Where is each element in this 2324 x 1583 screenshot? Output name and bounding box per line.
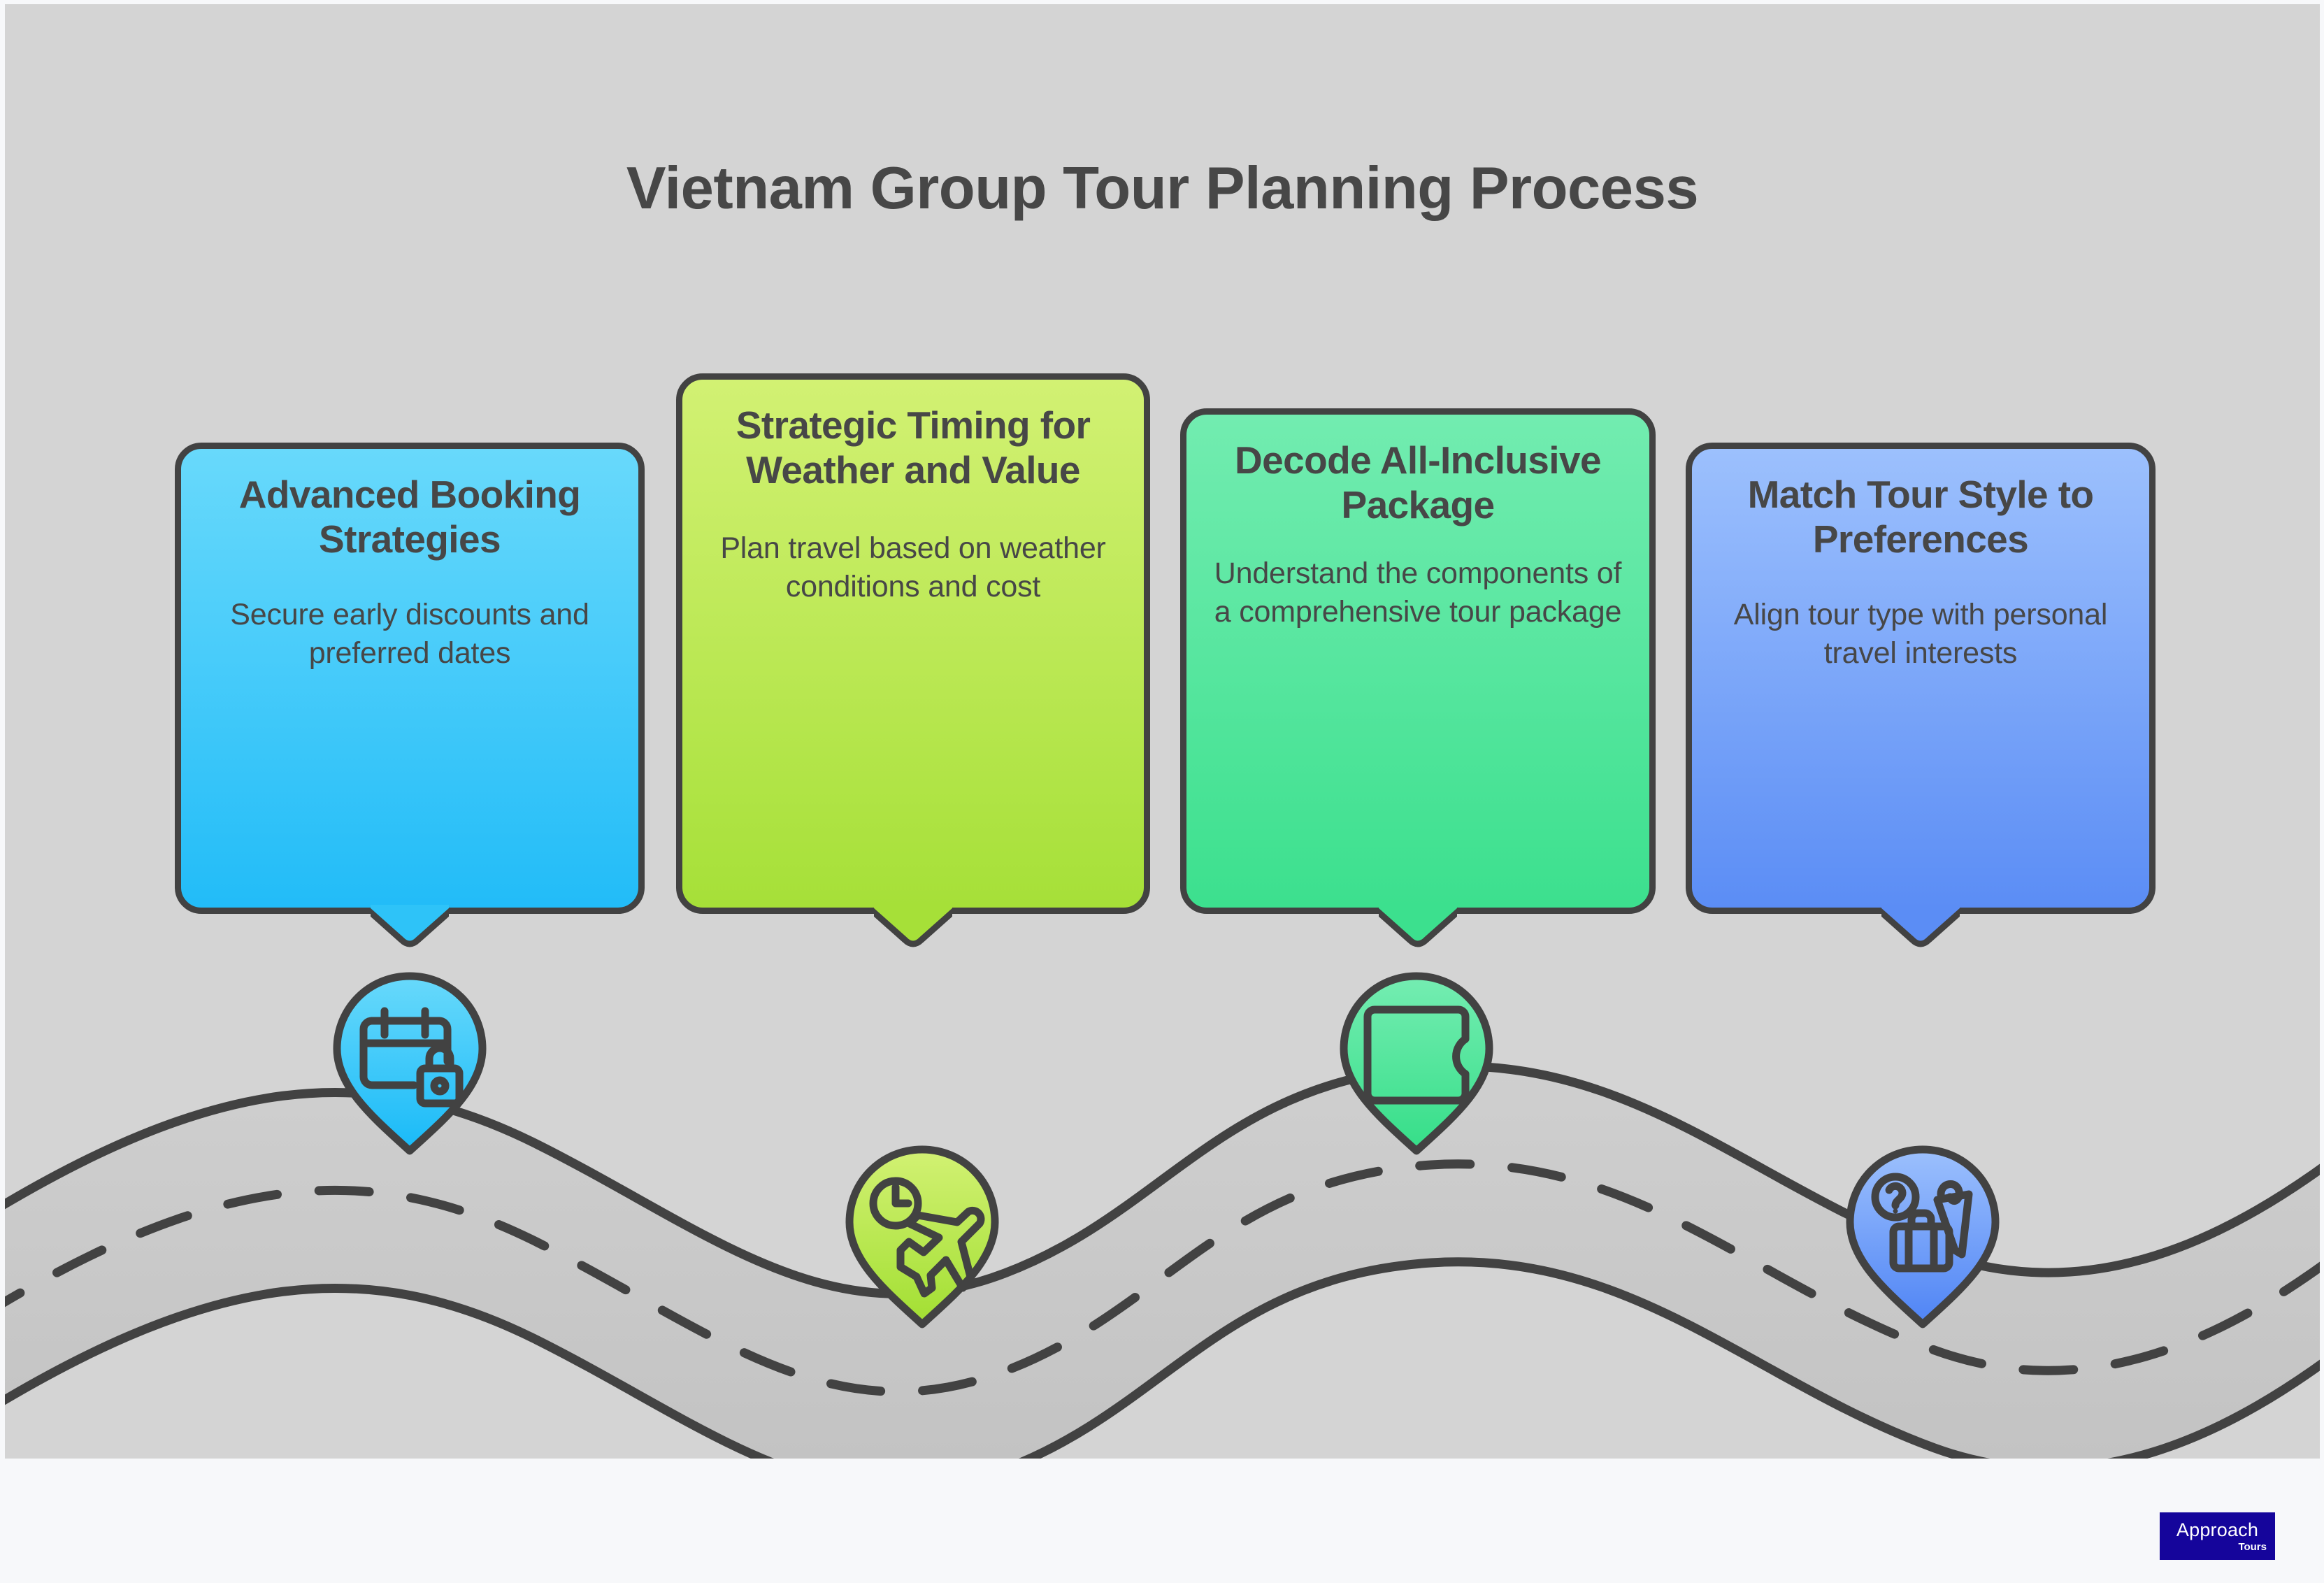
step-card-4-description: Align tour type with personal travel int…: [1713, 596, 2128, 673]
infographic-page: Vietnam Group Tour Planning Process: [0, 0, 2324, 1583]
map-pin-1-calendar-lock[interactable]: [329, 970, 491, 1158]
step-card-2-tail: [874, 905, 952, 951]
step-card-3-title: Decode All-Inclusive Package: [1207, 438, 1628, 528]
pin-2-shape: [849, 1149, 995, 1324]
step-card-3-tail: [1379, 905, 1457, 951]
pin-4-shape: [1850, 1149, 1995, 1324]
pin-1-shape: [337, 976, 482, 1151]
step-card-2-title: Strategic Timing for Weather and Value: [703, 403, 1123, 493]
map-pin-4-question-suitcase-umbrella[interactable]: [1842, 1144, 2004, 1331]
step-card-3-description: Understand the components of a comprehen…: [1207, 554, 1628, 631]
step-card-1-title: Advanced Booking Strategies: [202, 473, 617, 562]
page-title: Vietnam Group Tour Planning Process: [5, 155, 2320, 223]
approach-tours-logo: Approach Tours: [2160, 1512, 2275, 1560]
map-pin-3-puzzle-package[interactable]: [1335, 970, 1498, 1158]
step-card-2[interactable]: Strategic Timing for Weather and Value P…: [676, 373, 1150, 914]
step-card-1-description: Secure early discounts and preferred dat…: [202, 596, 617, 673]
step-card-4[interactable]: Match Tour Style to Preferences Align to…: [1686, 443, 2156, 914]
step-card-4-tail: [1881, 905, 1960, 951]
step-card-1[interactable]: Advanced Booking Strategies Secure early…: [175, 443, 645, 914]
step-card-1-tail: [371, 905, 449, 951]
map-pin-2-clock-airplane[interactable]: [841, 1144, 1003, 1331]
step-card-3[interactable]: Decode All-Inclusive Package Understand …: [1180, 408, 1656, 914]
step-card-4-title: Match Tour Style to Preferences: [1713, 473, 2128, 562]
logo-sub-text: Tours: [2238, 1542, 2267, 1552]
logo-main-text: Approach: [2176, 1521, 2258, 1540]
infographic-canvas: Vietnam Group Tour Planning Process: [5, 4, 2320, 1459]
step-card-2-description: Plan travel based on weather conditions …: [703, 529, 1123, 606]
